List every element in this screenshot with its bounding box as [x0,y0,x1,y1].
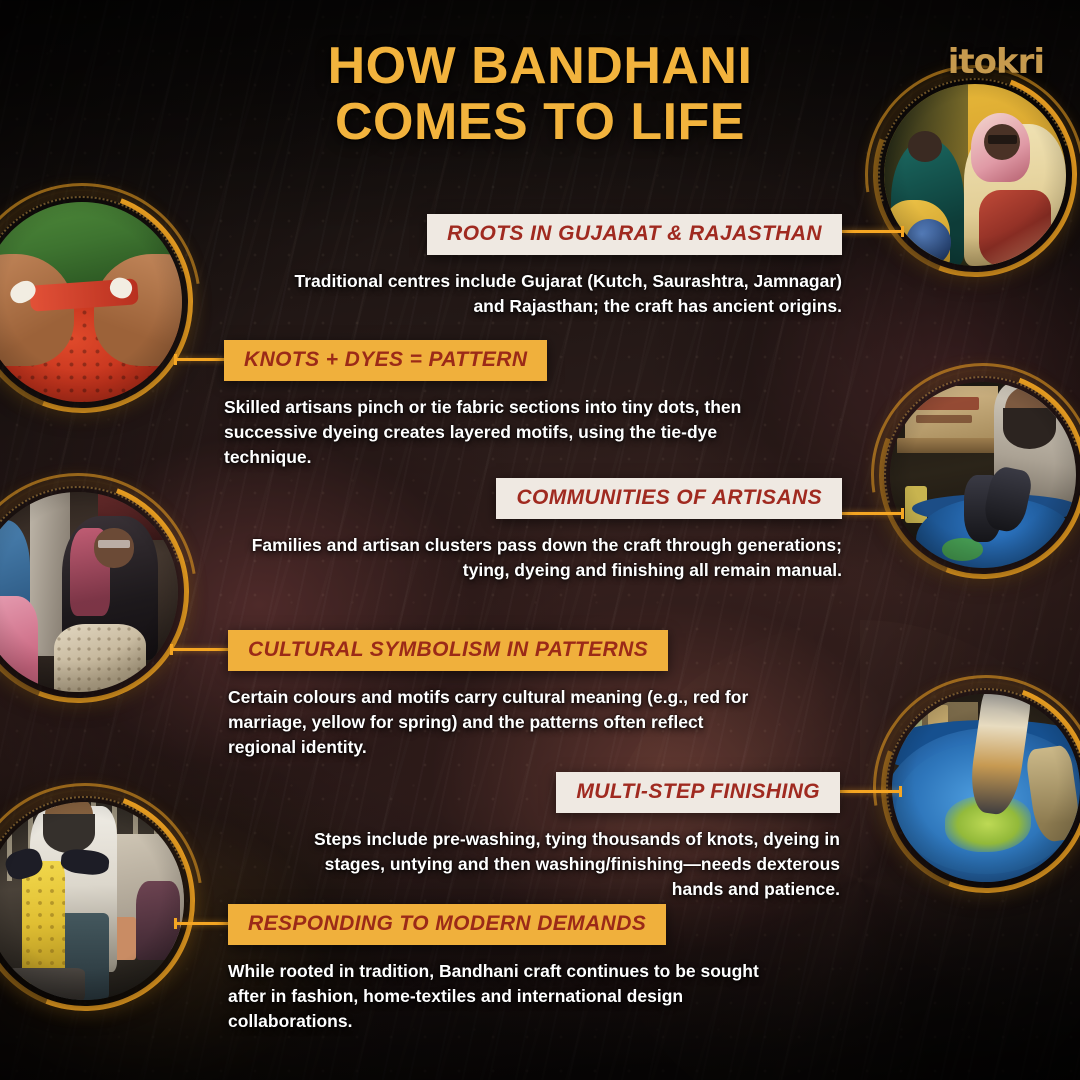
photo-disc [890,382,1076,568]
section-knots-dyes: KNOTS + DYES = PATTERN Skilled artisans … [224,340,744,470]
section-header-multi-step-finishing[interactable]: MULTI-STEP FINISHING [556,772,840,813]
section-body-knots-dyes: Skilled artisans pinch or tie fabric sec… [224,395,744,470]
connector-cultural [172,648,230,651]
infographic-poster: HOW BANDHANI COMES TO LIFE itokri [0,0,1080,1080]
photo-blue-dye-vat [892,694,1080,882]
connector-modern [176,922,232,925]
photo-women-artisans-working [0,492,178,692]
photo-disc [884,84,1066,266]
section-body-cultural-symbolism: Certain colours and motifs carry cultura… [228,685,758,760]
photo-disc [892,694,1080,882]
section-cultural-symbolism: CULTURAL SYMBOLISM IN PATTERNS Certain c… [228,630,758,760]
photo-women-tying-knots [884,84,1066,266]
section-body-multi-step-finishing: Steps include pre-washing, tying thousan… [300,827,840,902]
photo-dyer-blue-tub [890,382,1076,568]
section-modern-demands: RESPONDING TO MODERN DEMANDS While roote… [228,904,776,1034]
section-header-cultural-symbolism[interactable]: CULTURAL SYMBOLISM IN PATTERNS [228,630,668,671]
section-body-roots: Traditional centres include Gujarat (Kut… [286,269,842,319]
connector-finishing [838,790,900,793]
section-multi-step-finishing: MULTI-STEP FINISHING Steps include pre-w… [300,772,840,902]
section-header-knots-dyes[interactable]: KNOTS + DYES = PATTERN [224,340,547,381]
brand-logo[interactable]: itokri [948,42,1044,82]
photo-hands-tying-red-fabric [0,202,182,402]
photo-disc [0,202,182,402]
photo-disc [0,802,184,1000]
section-header-roots[interactable]: ROOTS IN GUJARAT & RAJASTHAN [427,214,842,255]
connector-roots [836,230,902,233]
section-header-modern-demands[interactable]: RESPONDING TO MODERN DEMANDS [228,904,666,945]
photo-man-lifting-yellow-fabric [0,802,184,1000]
photo-disc [0,492,178,692]
section-roots: ROOTS IN GUJARAT & RAJASTHAN Traditional… [286,214,842,319]
section-body-communities: Families and artisan clusters pass down … [246,533,842,583]
section-communities: COMMUNITIES OF ARTISANS Families and art… [246,478,842,583]
connector-communities [840,512,902,515]
section-header-communities[interactable]: COMMUNITIES OF ARTISANS [496,478,842,519]
section-body-modern-demands: While rooted in tradition, Bandhani craf… [228,959,776,1034]
